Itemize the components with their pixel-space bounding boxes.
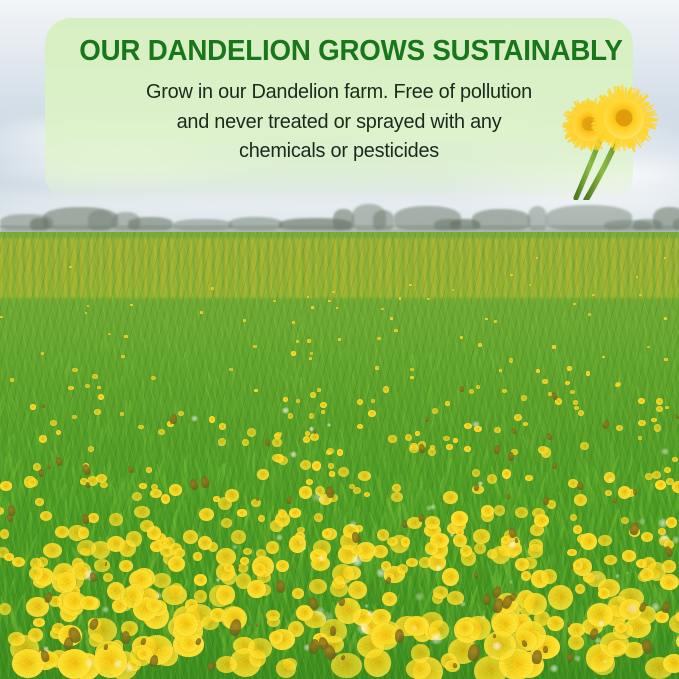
dandelion-bloom <box>151 376 156 380</box>
grass-blade <box>300 377 302 393</box>
dandelion-bloom <box>548 585 573 610</box>
grass-blade <box>65 360 70 379</box>
grass-blade <box>403 505 407 533</box>
dandelion-bloom <box>528 544 544 558</box>
dandelion-seedhead <box>218 443 222 447</box>
grass-blade <box>127 399 131 424</box>
grass-blade <box>350 460 357 480</box>
grass-blade <box>176 495 183 534</box>
dandelion-bloom <box>256 549 266 558</box>
grass-blade <box>583 417 586 438</box>
dandelion-bloom <box>460 336 463 339</box>
grass-blade <box>99 427 104 450</box>
grass-blade <box>382 449 386 471</box>
grass-blade <box>540 367 544 388</box>
dandelion-bud <box>127 465 134 474</box>
dandelion-bud <box>286 495 294 504</box>
dandelion-bloom <box>87 305 90 307</box>
dandelion-bloom <box>451 511 468 526</box>
grass-blade <box>164 313 166 329</box>
grass-blade <box>556 510 566 542</box>
grass-blade <box>500 413 511 436</box>
grass-blade <box>480 450 490 471</box>
grass-blade <box>448 378 451 393</box>
dandelion-bloom <box>169 484 183 496</box>
banner-body-text: Grow in our Dandelion farm. Free of poll… <box>87 77 591 164</box>
grass-blade <box>577 461 592 495</box>
grass-blade <box>523 372 531 397</box>
grass-blade <box>542 467 551 484</box>
dandelion-bloom <box>137 648 151 661</box>
dandelion-bloom <box>92 374 97 379</box>
dandelion-seedhead <box>626 602 639 615</box>
grass-blade <box>131 379 133 396</box>
dandelion-bud <box>553 463 558 469</box>
grass-blade <box>628 323 632 335</box>
dandelion-bloom <box>119 560 133 572</box>
grass-blade <box>416 547 424 591</box>
grass-blade <box>644 483 654 520</box>
grass-blade <box>418 396 426 413</box>
dandelion-seedhead <box>608 477 613 482</box>
grass-blade <box>358 384 361 397</box>
grass-blade <box>267 336 271 348</box>
dandelion-bloom <box>283 397 288 402</box>
dandelion-seedhead <box>661 448 669 456</box>
grass-blade <box>361 316 363 326</box>
grass-blade <box>384 448 387 473</box>
dandelion-bloom <box>394 329 397 332</box>
dandelion-bloom <box>307 339 311 343</box>
grass-blade <box>430 411 436 435</box>
dandelion-bloom <box>411 644 430 662</box>
dandelion-bloom <box>211 287 214 289</box>
grass-blade <box>1 357 12 381</box>
dandelion-seedhead <box>113 659 123 669</box>
grass-blade <box>602 403 605 434</box>
grass-blade <box>483 307 485 325</box>
dandelion-seedhead <box>321 611 333 623</box>
dandelion-bud <box>256 624 259 628</box>
grass-blade <box>607 402 613 422</box>
grass-blade <box>664 353 670 370</box>
grass-blade <box>412 353 414 368</box>
dandelion-bloom <box>573 303 576 305</box>
grass-blade <box>609 441 613 470</box>
grass-blade <box>308 374 311 388</box>
grass-blade <box>482 410 492 440</box>
grass-blade <box>527 429 537 466</box>
dandelion-seedhead <box>282 407 289 414</box>
dandelion-bloom <box>266 610 280 621</box>
grass-blade <box>319 337 322 359</box>
promo-banner: OUR DANDELION GROWS SUSTAINABLY Grow in … <box>45 18 633 200</box>
dandelion-bloom <box>538 446 548 454</box>
dandelion-seedhead <box>430 504 437 511</box>
dandelion-bloom <box>97 386 101 389</box>
grass-blade <box>612 391 615 412</box>
grass-blade <box>440 501 443 528</box>
grass-blade <box>141 394 148 420</box>
dandelion-bloom <box>568 635 583 650</box>
grass-blade <box>1 369 3 385</box>
grass-blade <box>345 380 351 406</box>
dandelion-bloom <box>336 307 339 309</box>
dandelion-bloom <box>397 564 408 574</box>
grass-blade <box>545 472 552 497</box>
grass-blade <box>501 393 506 411</box>
dandelion-bloom <box>390 317 393 320</box>
dandelion-bloom <box>656 398 663 405</box>
dandelion-bloom <box>8 632 25 645</box>
dandelion-bloom <box>0 316 3 318</box>
grass-blade <box>209 464 214 497</box>
dandelion-bloom <box>602 356 605 359</box>
grass-blade <box>505 432 513 447</box>
distant-flower-haze <box>0 238 679 298</box>
grass-blade <box>453 390 457 403</box>
dandelion-bloom <box>270 520 283 532</box>
grass-blade <box>441 393 454 421</box>
dandelion-bloom <box>328 463 335 468</box>
grass-blade <box>459 370 461 396</box>
dandelion-bloom <box>565 381 570 385</box>
dandelion-bloom <box>41 352 44 355</box>
dandelion-bloom <box>310 433 319 440</box>
dandelion-bloom <box>377 337 381 340</box>
grass-blade <box>460 450 475 487</box>
grass-blade <box>228 395 240 425</box>
grass-blade <box>200 334 202 346</box>
dandelion-bloom <box>289 508 301 517</box>
grass-blade <box>504 445 507 469</box>
dandelion-bloom <box>598 535 611 546</box>
grass-blade <box>107 425 117 447</box>
dandelion-bud <box>264 438 271 447</box>
grass-blade <box>215 467 220 487</box>
grass-blade <box>0 401 6 424</box>
dandelion-bloom <box>109 513 123 527</box>
grass-blade <box>276 401 282 425</box>
grass-blade <box>9 343 11 357</box>
grass-blade <box>556 525 565 548</box>
grass-blade <box>18 383 30 408</box>
dandelion-bloom <box>120 412 125 416</box>
dandelion-seedhead <box>156 592 163 599</box>
grass-blade <box>586 473 596 510</box>
grass-blade <box>92 492 95 511</box>
dandelion-bloom <box>638 398 645 404</box>
dandelion-bloom <box>309 357 313 360</box>
grass-blade <box>531 412 542 441</box>
grass-blade <box>559 310 566 325</box>
grass-blade <box>278 477 285 501</box>
grass-blade <box>495 356 503 377</box>
grass-blade <box>355 434 366 457</box>
grass-blade <box>556 504 564 528</box>
grass-blade <box>632 472 640 501</box>
dandelion-seedhead <box>191 415 198 422</box>
dandelion-bloom <box>68 386 74 391</box>
grass-blade <box>346 349 351 362</box>
grass-blade <box>216 377 222 395</box>
dandelion-bloom <box>348 581 367 599</box>
dandelion-bloom <box>77 540 96 557</box>
dandelion-bloom <box>409 284 412 286</box>
grass-blade <box>87 420 90 436</box>
dandelion-bloom <box>88 446 94 451</box>
dandelion-bloom <box>586 371 590 375</box>
dandelion-bloom <box>231 530 245 544</box>
grass-blade <box>155 392 161 415</box>
dandelion-bloom <box>85 312 88 314</box>
dandelion-bloom <box>524 593 547 616</box>
grass-blade <box>27 438 35 463</box>
grass-blade <box>595 359 597 375</box>
grass-blade <box>11 468 16 504</box>
grass-blade <box>348 328 351 339</box>
grass-blade <box>670 335 678 352</box>
grass-blade <box>671 425 679 456</box>
dandelion-bloom <box>371 399 375 402</box>
dandelion-bloom <box>502 389 507 393</box>
grass-blade <box>134 364 141 380</box>
grass-blade <box>293 365 300 388</box>
dandelion-bloom <box>580 533 597 550</box>
dandelion-bloom <box>443 491 457 504</box>
grass-blade <box>0 499 1 534</box>
dandelion-bloom <box>410 368 414 371</box>
grass-blade <box>467 324 469 343</box>
grass-blade <box>591 466 600 486</box>
grass-blade <box>163 318 169 334</box>
dandelion-bloom <box>193 552 202 560</box>
grass-blade <box>551 351 555 376</box>
grass-blade <box>643 353 645 374</box>
dandelion-bloom <box>276 659 296 678</box>
grass-blade <box>409 482 416 511</box>
dandelion-bloom <box>296 399 300 403</box>
grass-blade <box>103 397 106 413</box>
grass-blade <box>337 485 346 516</box>
grass-blade <box>303 322 310 337</box>
grass-blade <box>332 503 336 529</box>
grass-blade <box>585 463 591 501</box>
dandelion-bloom <box>236 573 252 588</box>
grass-blade <box>673 311 678 321</box>
grass-blade <box>246 456 251 484</box>
dandelion-bloom <box>288 413 294 418</box>
dandelion-bud <box>89 571 99 583</box>
dandelion-seedhead <box>472 421 480 429</box>
dandelion-bloom <box>375 366 380 370</box>
grass-blade <box>230 312 235 329</box>
dandelion-bloom <box>300 460 311 470</box>
grass-blade <box>413 548 427 590</box>
grass-blade <box>535 357 541 377</box>
dandelion-bloom <box>351 545 362 554</box>
grass-blade <box>445 413 450 431</box>
dandelion-bloom <box>201 616 219 630</box>
dandelion-bloom <box>158 429 165 435</box>
dandelion-bloom <box>494 320 497 323</box>
dandelion-bloom <box>476 385 480 389</box>
grass-blade <box>445 337 448 351</box>
dandelion-bloom <box>307 296 310 298</box>
dandelion-bloom <box>663 654 679 673</box>
dandelion-seedhead <box>124 663 134 673</box>
grass-blade <box>433 354 443 378</box>
dandelion-bloom <box>310 392 316 398</box>
dandelion-field <box>0 232 679 679</box>
dandelion-bloom <box>364 492 371 497</box>
grass-blade <box>266 342 271 359</box>
dandelion-bud <box>543 646 548 653</box>
grass-blade <box>375 474 385 507</box>
grass-blade <box>525 436 530 458</box>
grass-blade <box>64 367 66 384</box>
dandelion-bloom <box>243 548 252 555</box>
dandelion-bloom <box>314 513 323 522</box>
dandelion-seedhead <box>290 451 296 457</box>
grass-blade <box>340 432 344 448</box>
grass-blade <box>185 432 192 462</box>
dandelion-bloom <box>209 416 215 422</box>
grass-blade <box>12 434 15 451</box>
grass-blade <box>448 458 454 475</box>
dandelion-bloom <box>523 422 528 426</box>
grass-blade <box>134 454 143 476</box>
dandelion-bloom <box>373 545 388 558</box>
grass-blade <box>296 324 302 340</box>
dandelion-bloom <box>636 276 638 278</box>
dandelion-seedhead <box>364 604 369 609</box>
grass-blade <box>340 348 344 364</box>
grass-blade <box>89 486 99 512</box>
grass-blade <box>7 402 20 432</box>
dandelion-bloom <box>464 446 470 452</box>
dandelion-bud <box>508 452 514 461</box>
grass-blade <box>557 548 563 581</box>
grass-blade <box>150 435 153 452</box>
dandelion-bloom <box>383 386 389 392</box>
grass-blade <box>312 358 318 373</box>
dandelion-bloom <box>225 489 239 503</box>
grass-blade <box>487 330 493 342</box>
dandelion-bloom <box>536 369 540 373</box>
dandelion-seedhead <box>660 533 670 543</box>
dandelion-bloom <box>406 558 418 567</box>
dandelion-seedhead <box>85 658 95 668</box>
dandelion-bloom <box>573 560 583 570</box>
grass-blade <box>314 360 320 380</box>
dandelion-bloom <box>442 568 460 586</box>
dandelion-seedhead <box>615 574 619 578</box>
grass-blade <box>102 389 106 413</box>
dandelion-bloom <box>292 321 295 324</box>
grass-blade <box>103 447 106 464</box>
grass-blade <box>401 338 406 359</box>
grass-blade <box>222 463 225 484</box>
grass-blade <box>671 308 674 319</box>
grass-blade <box>647 483 650 514</box>
grass-blade <box>569 410 574 438</box>
grass-blade <box>120 376 123 391</box>
product-lifestyle-image: OUR DANDELION GROWS SUSTAINABLY Grow in … <box>0 0 679 679</box>
grass-blade <box>508 484 515 518</box>
grass-blade <box>430 352 433 370</box>
grass-blade <box>41 355 48 371</box>
grass-blade <box>216 308 219 323</box>
dandelion-seedhead <box>415 592 424 601</box>
dandelion-bloom <box>651 418 657 423</box>
dandelion-bloom <box>85 384 90 388</box>
grass-blade <box>19 300 22 310</box>
grass-blade <box>513 375 515 402</box>
grass-blade <box>76 370 78 386</box>
dandelion-seedhead <box>603 659 607 663</box>
dandelion-bloom <box>605 490 612 496</box>
dandelion-bloom <box>39 435 47 442</box>
dandelion-bloom <box>94 559 110 572</box>
dandelion-bloom <box>353 487 361 494</box>
dandelion-bloom <box>481 505 494 517</box>
dandelion-bloom <box>320 402 326 408</box>
grass-blade <box>184 359 189 385</box>
dandelion-bloom <box>289 535 307 553</box>
dandelion-bloom <box>213 496 220 501</box>
dandelion-bloom <box>229 368 233 372</box>
dandelion-bloom <box>98 394 104 400</box>
grass-blade <box>557 490 571 529</box>
dandelion-bloom <box>50 420 57 426</box>
dandelion-bloom <box>499 369 503 372</box>
dandelion-bloom <box>401 537 410 547</box>
grass-blade <box>406 322 411 335</box>
dandelion-bloom <box>521 395 527 400</box>
dandelion-bloom <box>297 527 305 534</box>
dandelion-bloom <box>273 300 276 302</box>
grass-blade <box>279 370 291 395</box>
dandelion-bloom <box>574 494 587 506</box>
grass-blade <box>245 334 250 346</box>
grass-blade <box>243 378 246 405</box>
grass-blade <box>549 457 554 480</box>
dandelion-bud <box>82 463 93 476</box>
dandelion-bloom <box>178 411 184 416</box>
grass-blade <box>616 445 623 461</box>
dandelion-bloom <box>664 317 667 320</box>
dandelion-bloom <box>337 449 343 456</box>
dandelion-bloom <box>146 467 152 472</box>
dandelion-bloom <box>240 557 250 565</box>
grass-blade <box>95 441 99 459</box>
grass-blade <box>396 392 399 412</box>
dandelion-bloom <box>567 549 576 556</box>
dandelion-bud <box>42 404 45 408</box>
grass-blade <box>390 505 402 534</box>
grass-blade <box>126 360 134 385</box>
grass-blade <box>98 419 112 448</box>
grass-blade <box>269 462 282 494</box>
dandelion-bloom <box>655 480 666 490</box>
dandelion-bud <box>601 419 611 430</box>
dandelion-bloom <box>303 436 310 443</box>
dandelion-bloom <box>672 457 678 462</box>
dandelion-bloom <box>415 431 420 436</box>
dandelion-bloom <box>552 345 556 348</box>
dandelion-bloom <box>237 509 246 516</box>
